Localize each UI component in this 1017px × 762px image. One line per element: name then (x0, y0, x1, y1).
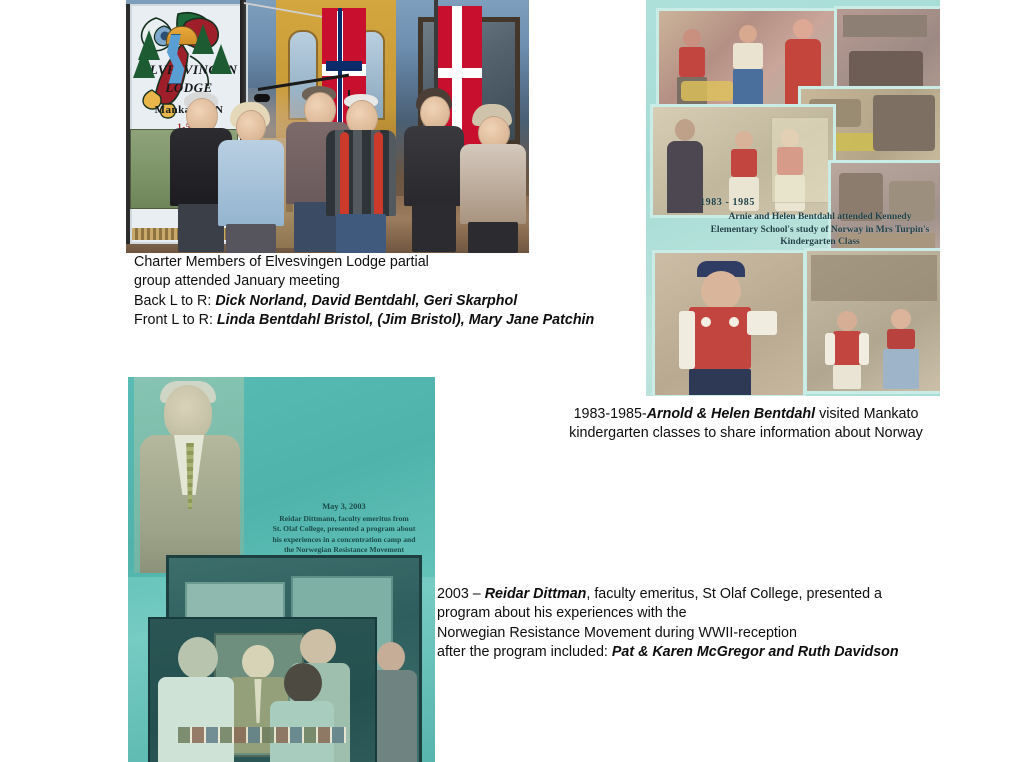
figure-man-bunad-cap (673, 261, 783, 391)
slide-body-text: Arnie and Helen Bentdahl attended Kenned… (700, 211, 940, 249)
caption-dittman-name: Reidar Dittman (485, 586, 587, 602)
slide-line-1: Reidar Dittmann, faculty emeritus from (254, 514, 434, 524)
caption-dittman-line-2: program about his experiences with the (437, 605, 687, 621)
caption-kinder-prefix: 1983-1985- (574, 406, 647, 422)
caption-dittman-line-4-prefix: after the program included: (437, 644, 612, 660)
slide-years: 1983 - 1985 (700, 197, 940, 208)
caption-dittman: 2003 – Reidar Dittman, faculty emeritus,… (437, 585, 899, 663)
slide-line-3: his experiences in a concentration camp … (254, 535, 434, 545)
microphone-head-icon (254, 94, 270, 102)
page-canvas: ELVESVINGEN LODGE Mankato MN 1-582 (0, 0, 1017, 762)
reception-guest-front (270, 663, 334, 762)
caption-kinder-names: Arnold & Helen Bentdahl (647, 406, 815, 422)
reception-guest-left (158, 637, 234, 762)
caption-line-2: group attended January meeting (134, 273, 340, 289)
caption-charter-members: Charter Members of Elvesvingen Lodge par… (134, 253, 594, 331)
caption-back-row-label: Back L to R: (134, 293, 215, 309)
photo-dittman-slide: May 3, 2003 Reidar Dittmann, faculty eme… (128, 377, 435, 762)
portrait-head (164, 385, 212, 441)
photo-kindergarten-slide: 1983 - 1985 Arnie and Helen Bentdahl att… (646, 0, 940, 396)
figure-man-red-vest (823, 311, 871, 389)
caption-front-row-label: Front L to R: (134, 312, 217, 328)
caption-front-row-names: Linda Bentdahl Bristol, (Jim Bristol), M… (217, 312, 594, 328)
slide-pane-man-in-bunad (652, 250, 806, 396)
caption-line-1: Charter Members of Elvesvingen Lodge par… (134, 254, 429, 270)
caption-kindergarten: 1983-1985-Arnold & Helen Bentdahl visite… (534, 405, 958, 444)
caption-back-row-names: Dick Norland, David Bentdahl, Geri Skarp… (215, 293, 517, 309)
portrait-reidar-dittmann (134, 377, 244, 573)
photo-charter-members-group: ELVESVINGEN LODGE Mankato MN 1-582 (126, 0, 529, 253)
caption-dittman-line-3: Norwegian Resistance Movement during WWI… (437, 625, 797, 641)
figure-in-bunad (673, 29, 713, 115)
filmstrip-decoration (178, 727, 346, 743)
figure-woman-bunad (877, 309, 925, 389)
banner-pine-tree-icon (210, 44, 232, 74)
slide-caption-kindergarten: 1983 - 1985 Arnie and Helen Bentdahl att… (700, 197, 940, 249)
banner-pine-tree-icon (133, 48, 155, 78)
caption-dittman-prefix: 2003 – (437, 586, 485, 602)
caption-dittman-attendees: Pat & Karen McGregor and Ruth Davidson (612, 644, 899, 660)
slide-line-4: the Norwegian Resistance Movement (254, 545, 434, 555)
caption-dittman-line1-suffix: , faculty emeritus, St Olaf College, pre… (586, 586, 882, 602)
slide-date: May 3, 2003 (254, 502, 434, 512)
slide-pane-couple-in-bunad (804, 248, 940, 394)
slide-line-2: St. Olaf College, presented a program ab… (254, 524, 434, 534)
